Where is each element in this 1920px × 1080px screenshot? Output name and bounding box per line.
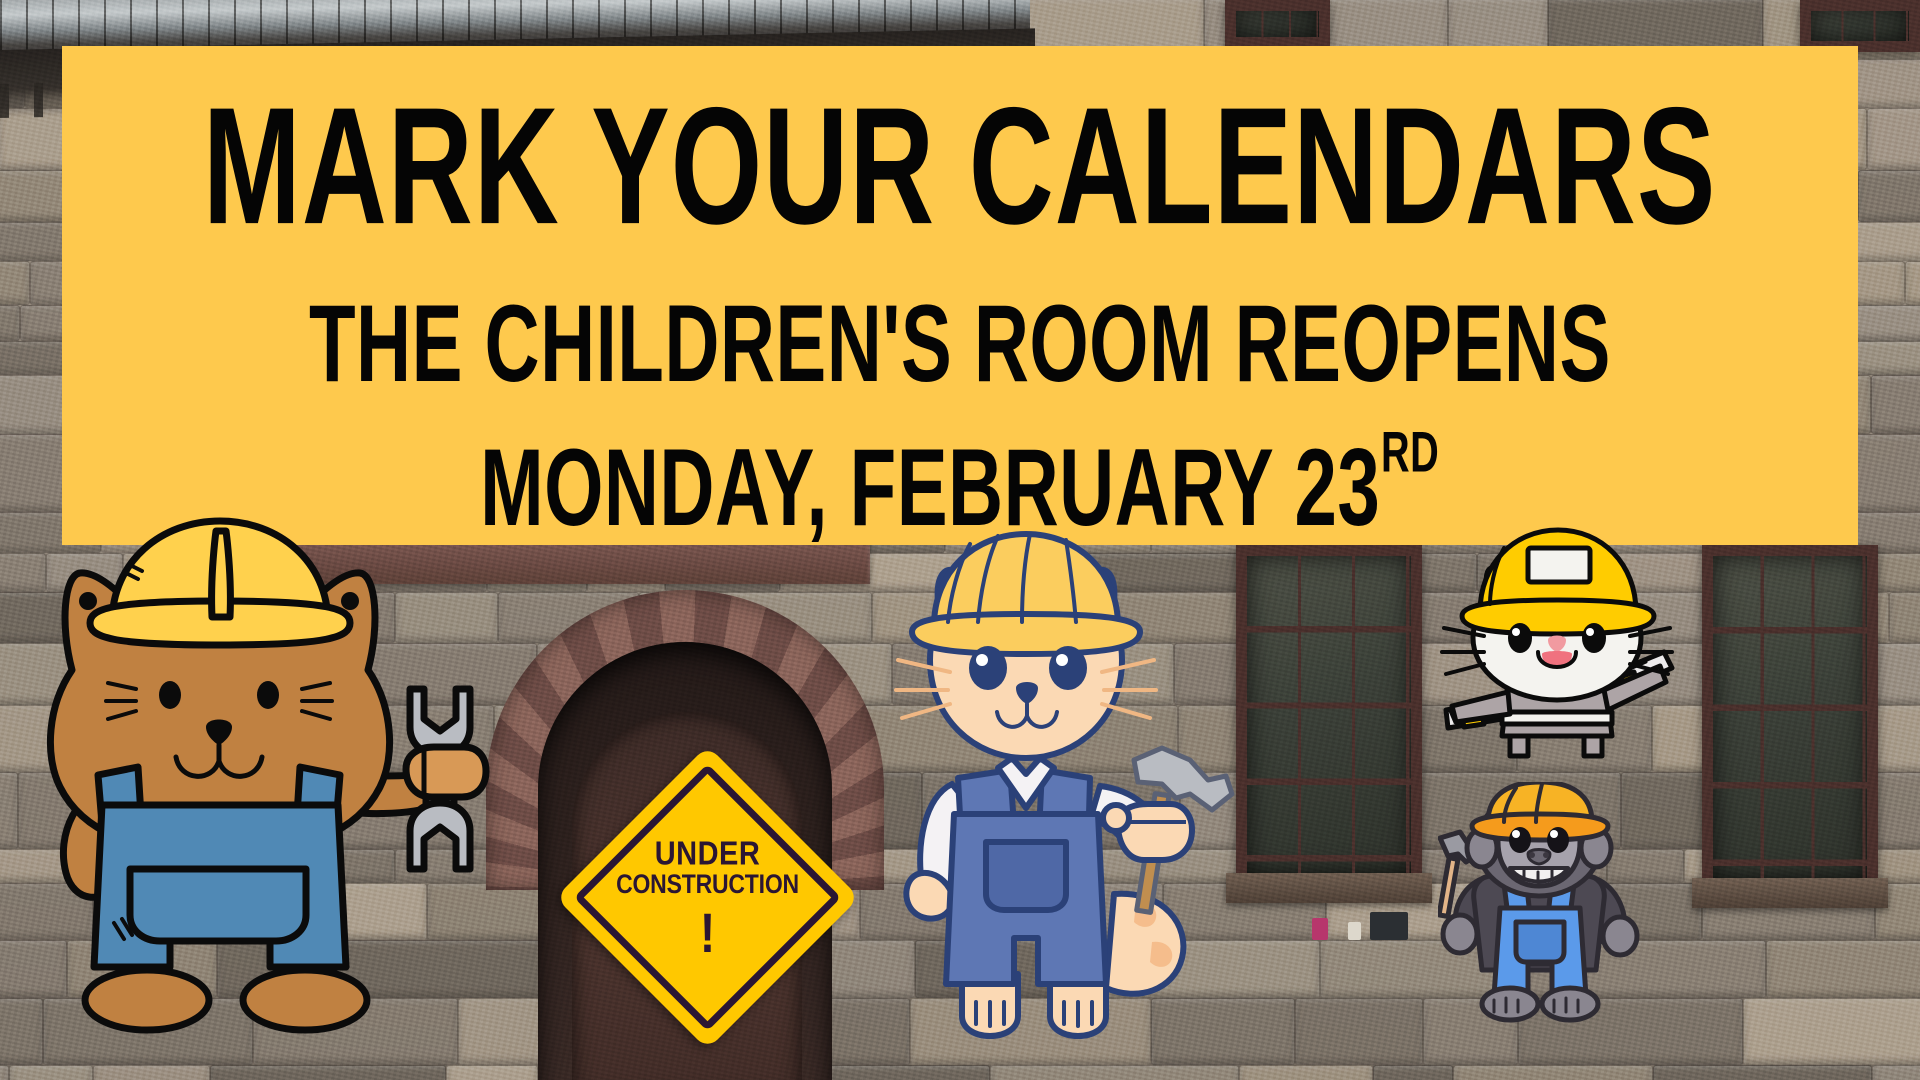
character-cat-builder xyxy=(890,522,1250,1062)
date-ordinal-suffix: RD xyxy=(1381,425,1439,482)
white-cat-builder-illustration xyxy=(1432,512,1682,774)
cat-builder-illustration xyxy=(890,522,1250,1062)
subheadline: THE CHILDREN'S ROOM REOPENS xyxy=(309,290,1611,400)
announcement-banner: MARK YOUR CALENDARS THE CHILDREN'S ROOM … xyxy=(62,46,1858,545)
sill-object-pink xyxy=(1312,918,1328,940)
sign-line-2: CONSTRUCTION xyxy=(616,871,799,897)
under-construction-sign: UNDER CONSTRUCTION ! xyxy=(600,790,815,1005)
character-white-cat-builder xyxy=(1432,512,1682,774)
character-bear-builder xyxy=(20,505,490,1050)
sign-line-1: UNDER xyxy=(655,837,761,870)
headline: MARK YOUR CALENDARS xyxy=(203,84,1717,250)
sill-object-dark xyxy=(1370,912,1408,940)
sill-object-white xyxy=(1348,922,1361,940)
sign-exclamation: ! xyxy=(700,905,715,960)
gorilla-builder-illustration xyxy=(1438,782,1660,1030)
character-gorilla-builder xyxy=(1438,782,1660,1030)
bear-builder-illustration xyxy=(20,505,490,1050)
sign-text-group: UNDER CONSTRUCTION ! xyxy=(600,790,815,1005)
